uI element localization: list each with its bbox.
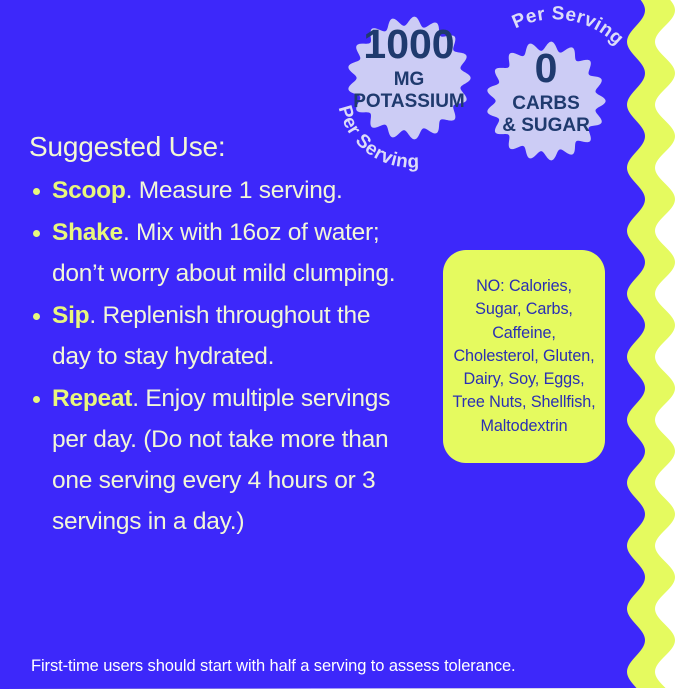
page-title: Suggested Use: [29, 131, 225, 163]
badge-number-1: 1000 [363, 21, 454, 67]
free-from-callout-box: NO: Calories, Sugar, Carbs, Caffeine, Ch… [443, 250, 605, 463]
usage-step-keyword: Scoop [52, 177, 126, 204]
usage-step-4: Repeat. Enjoy multiple servings per day.… [29, 378, 411, 542]
product-panel: Suggested Use: Scoop. Measure 1 serving.… [0, 0, 679, 689]
badge-sub-2b: & SUGAR [502, 115, 590, 136]
first-time-user-note: First-time users should start with half … [31, 657, 516, 676]
usage-step-1: Scoop. Measure 1 serving. [29, 170, 411, 211]
badge-potassium: 1000 MG POTASSIUM Per Serving [330, 6, 490, 176]
usage-step-keyword: Sip [52, 302, 89, 329]
usage-step-detail: . Replenish throughout the day to stay h… [52, 302, 370, 370]
usage-step-keyword: Repeat [52, 385, 132, 412]
bullet-dot-icon [33, 313, 40, 320]
usage-steps-list: Scoop. Measure 1 serving.Shake. Mix with… [29, 170, 411, 543]
badge-per-serving-label-2: Per Serving [509, 3, 628, 49]
bullet-dot-icon [33, 188, 40, 195]
usage-step-2: Shake. Mix with 16oz of water; don’t wor… [29, 212, 411, 294]
badge-carbs-sugar: 0 CARBS & SUGAR Per Serving [486, 0, 661, 160]
badge-number-2: 0 [535, 45, 558, 91]
badge-sub-2a: CARBS [512, 93, 580, 114]
usage-step-detail: . Measure 1 serving. [126, 177, 343, 204]
badge-sub-1b: POTASSIUM [353, 91, 465, 112]
free-from-list-text: NO: Calories, Sugar, Carbs, Caffeine, Ch… [452, 275, 596, 437]
badge-sub-1a: MG [394, 69, 425, 90]
bullet-dot-icon [33, 396, 40, 403]
usage-step-keyword: Shake [52, 219, 123, 246]
bullet-dot-icon [33, 230, 40, 237]
usage-step-3: Sip. Replenish throughout the day to sta… [29, 295, 411, 377]
